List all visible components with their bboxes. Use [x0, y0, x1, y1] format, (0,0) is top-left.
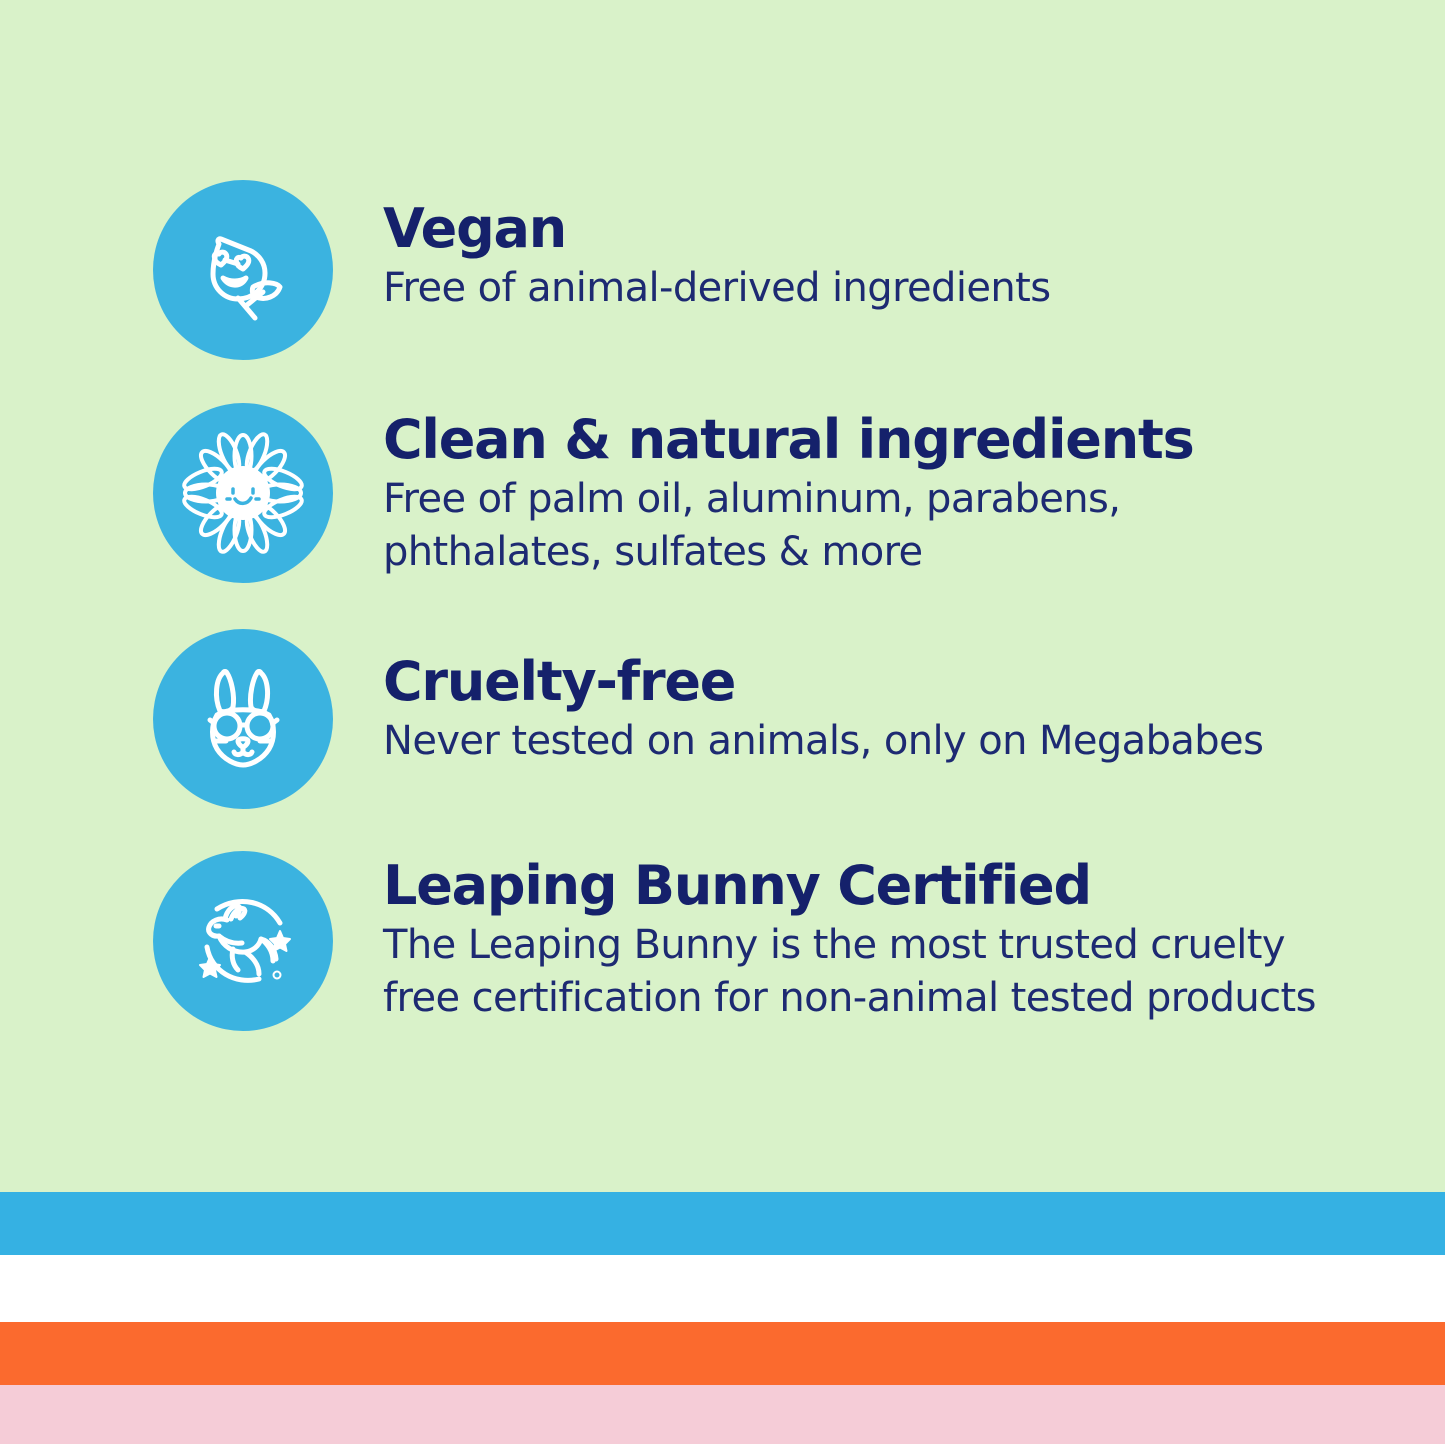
feature-title: Vegan	[383, 202, 1050, 256]
white-band	[0, 1255, 1445, 1322]
feature-item-leaping-bunny: Leaping Bunny Certified The Leaping Bunn…	[153, 851, 1343, 1031]
feature-text-block: Cruelty-free Never tested on animals, on…	[383, 629, 1263, 768]
feature-title: Cruelty-free	[383, 655, 1263, 709]
feature-list: Vegan Free of animal-derived ingredients	[0, 0, 1445, 1192]
feature-description: Never tested on animals, only on Megabab…	[383, 715, 1263, 768]
product-benefits-panel: Vegan Free of animal-derived ingredients	[0, 0, 1445, 1444]
feature-title: Leaping Bunny Certified	[383, 859, 1343, 913]
feature-text-block: Leaping Bunny Certified The Leaping Bunn…	[383, 851, 1343, 1025]
feature-text-block: Clean & natural ingredients Free of palm…	[383, 403, 1343, 579]
daisy-smiling-icon	[153, 403, 333, 583]
feature-title: Clean & natural ingredients	[383, 413, 1343, 467]
feature-item-clean-natural: Clean & natural ingredients Free of palm…	[153, 403, 1343, 583]
feature-item-vegan: Vegan Free of animal-derived ingredients	[153, 180, 1050, 360]
feature-description: The Leaping Bunny is the most trusted cr…	[383, 919, 1343, 1025]
feature-description: Free of animal-derived ingredients	[383, 262, 1050, 315]
sprout-sunglasses-icon	[153, 180, 333, 360]
leaping-bunny-logo-icon	[153, 851, 333, 1031]
feature-item-cruelty-free: Cruelty-free Never tested on animals, on…	[153, 629, 1263, 809]
orange-band	[0, 1322, 1445, 1385]
pink-band	[0, 1385, 1445, 1444]
feature-text-block: Vegan Free of animal-derived ingredients	[383, 180, 1050, 315]
bunny-sunglasses-icon	[153, 629, 333, 809]
blue-band	[0, 1192, 1445, 1255]
feature-description: Free of palm oil, aluminum, parabens, ph…	[383, 473, 1343, 579]
